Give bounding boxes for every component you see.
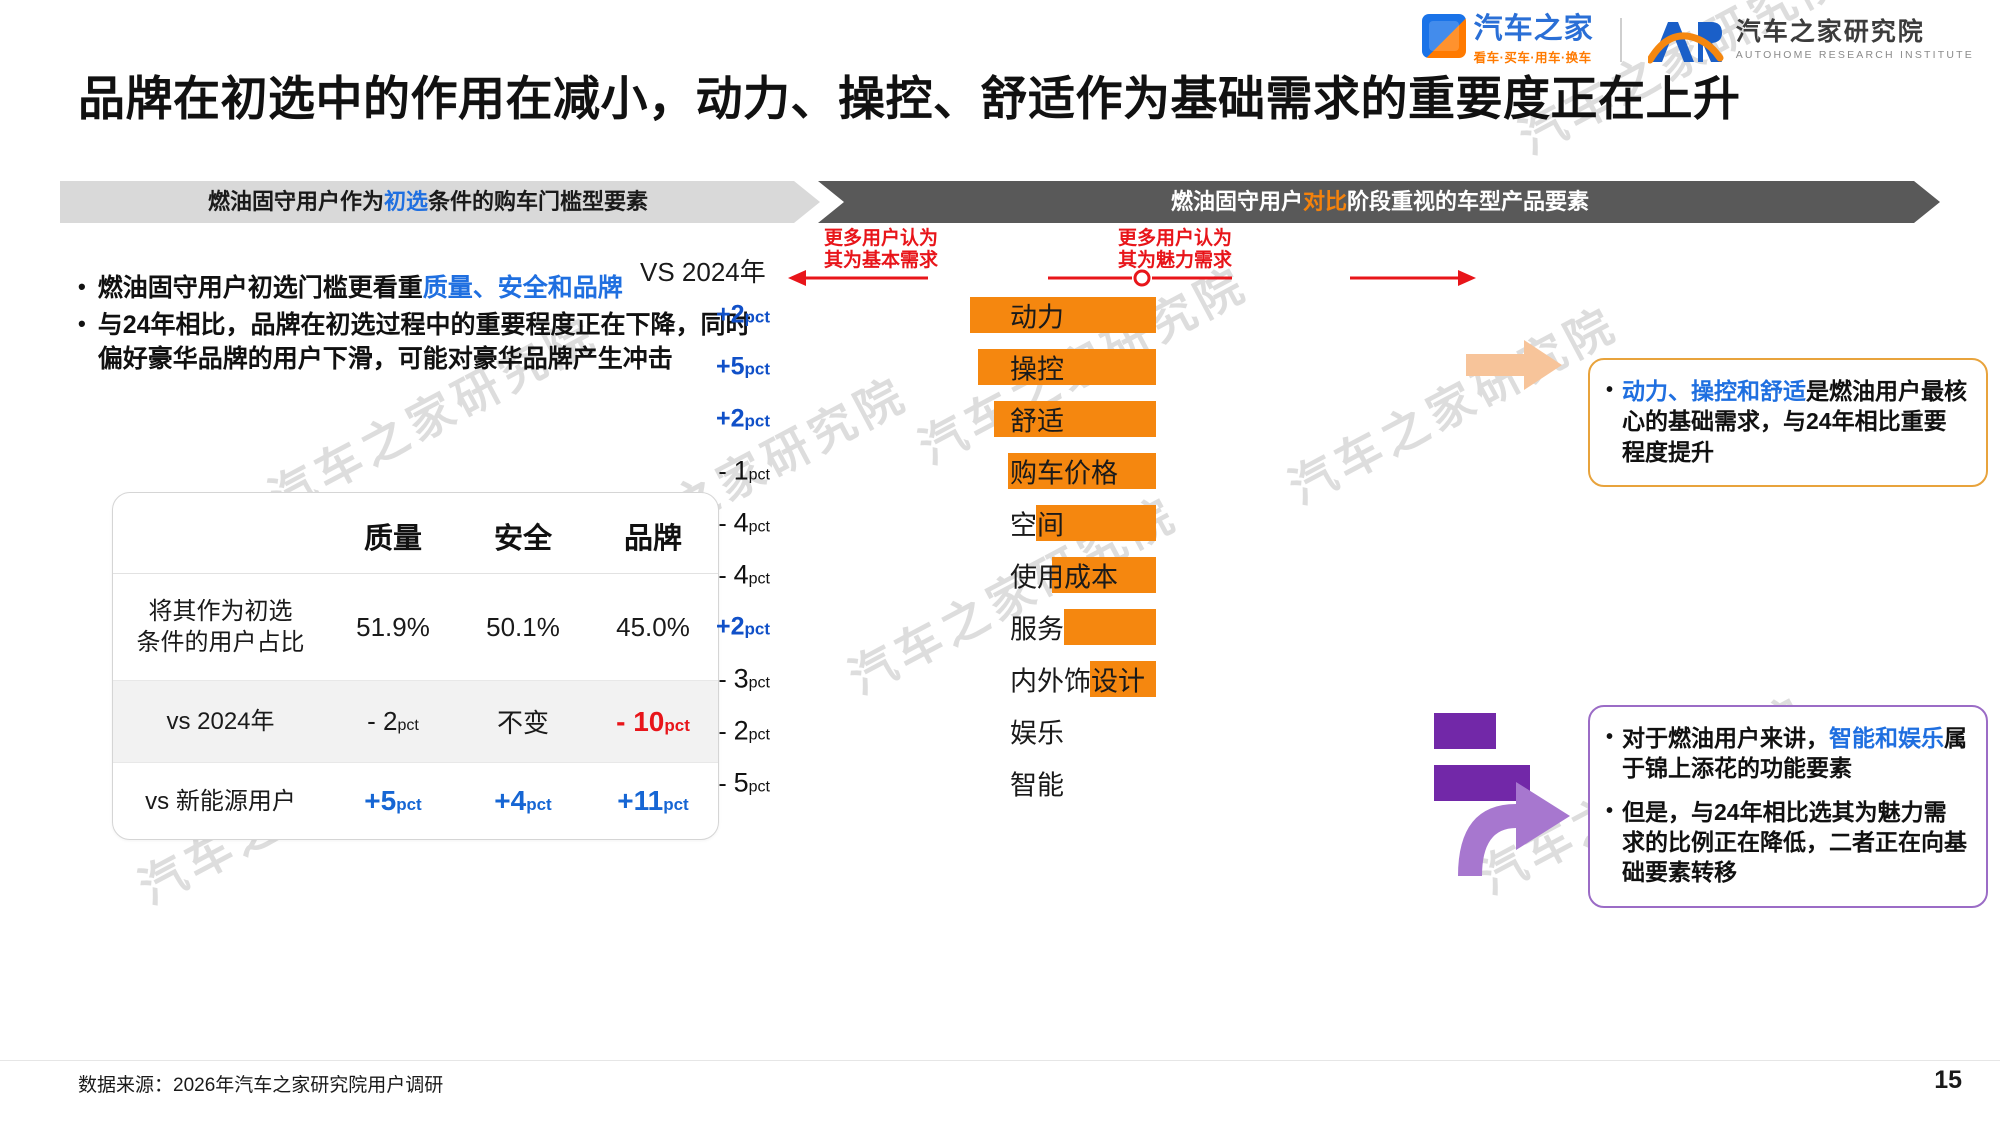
research-logo: 汽车之家研究院 AUTOHOME RESEARCH INSTITUTE xyxy=(1648,16,1974,64)
chart-row: +2pct 服务 xyxy=(800,602,1560,652)
delta-number: 3 xyxy=(734,664,749,694)
chart-category-label: 购车价格 xyxy=(1010,452,1118,491)
axis-note-basic-line1: 更多用户认为 xyxy=(824,228,938,250)
cell-value: - 2 xyxy=(367,706,397,736)
section-header-left: 燃油固守用户作为初选条件的购车门槛型要素 xyxy=(60,181,820,223)
delta-sign: - xyxy=(718,458,733,486)
ar-monogram-icon xyxy=(1648,16,1724,64)
delta-unit: pct xyxy=(749,571,770,588)
callout-text: 但是，与24年相比选其为魅力需求的比例正在降低，二者正在向基础要素转移 xyxy=(1622,797,1968,888)
callout-dot-icon: • xyxy=(1606,723,1613,784)
delta-unit: pct xyxy=(749,675,770,692)
cell-unit: pct xyxy=(397,717,418,734)
delta-number: 2 xyxy=(734,716,749,746)
research-logo-name: 汽车之家研究院 xyxy=(1736,19,1974,47)
delta-unit: pct xyxy=(745,412,771,431)
row-label: 将其作为初选条件的用户占比 xyxy=(113,596,328,658)
delta-number: 4 xyxy=(734,508,749,538)
autohome-mark-icon xyxy=(1422,14,1466,58)
delta-number: 5 xyxy=(734,768,749,798)
cell-value: +5 xyxy=(364,785,396,816)
callout-text: 对于燃油用户来讲， xyxy=(1622,725,1829,751)
ribbon-left-pre: 燃油固守用户作为 xyxy=(208,189,384,214)
chart-row: - 4pct 使用成本 xyxy=(800,550,1560,600)
page-number: 15 xyxy=(1934,1066,1962,1095)
delta-sign: - xyxy=(718,666,733,694)
delta-unit: pct xyxy=(745,308,771,327)
chart-rows: +2pct 动力 +5pct 操控 +2pct 舒适 - 1pct 购车价格 xyxy=(800,290,1560,810)
delta-unit: pct xyxy=(749,519,770,536)
cell-unit: pct xyxy=(396,795,422,814)
bullet-dot-icon: • xyxy=(78,272,86,305)
page-title: 品牌在初选中的作用在减小，动力、操控、舒适作为基础需求的重要度正在上升 xyxy=(78,60,1741,129)
delta-number: 5 xyxy=(731,353,745,381)
orange-connector-arrow-icon xyxy=(1462,334,1570,396)
chart-row: - 1pct 购车价格 xyxy=(800,446,1560,496)
table-row: vs 2024年 - 2pct 不变 - 10pct xyxy=(113,681,718,763)
row-label: vs 新能源用户 xyxy=(145,788,296,815)
delta-sign: + xyxy=(716,353,731,381)
cell-value: 50.1% xyxy=(486,612,560,642)
chart-category-label: 操控 xyxy=(1010,348,1064,387)
bullet-text: 燃油固守用户初选门槛更看重 xyxy=(98,274,423,302)
delta-number: 2 xyxy=(731,405,745,433)
cell-unit: pct xyxy=(526,795,552,814)
delta-unit: pct xyxy=(745,620,771,639)
chart-delta: - 2pct xyxy=(650,716,770,747)
chart-category-label: 舒适 xyxy=(1010,400,1064,439)
delta-sign: + xyxy=(716,613,731,641)
callout-dot-icon: • xyxy=(1606,376,1613,467)
callout-item: • 动力、操控和舒适是燃油用户最核心的基础需求，与24年相比重要程度提升 xyxy=(1606,376,1968,467)
purple-connector-arrow-icon xyxy=(1448,758,1580,888)
delta-unit: pct xyxy=(745,360,771,379)
table-row: 将其作为初选条件的用户占比 51.9% 50.1% 45.0% xyxy=(113,574,718,681)
needs-chart: VS 2024年 更多用户认为 其为基本需求 更多用户认为 其为魅力需求 +2p… xyxy=(800,290,1560,1010)
delta-number: 4 xyxy=(734,560,749,590)
research-logo-en: AUTOHOME RESEARCH INSTITUTE xyxy=(1736,49,1974,61)
chart-category-label: 使用成本 xyxy=(1010,556,1118,595)
chart-category-label: 内外饰设计 xyxy=(1010,660,1145,699)
chart-row: +2pct 动力 xyxy=(800,290,1560,340)
section-header-right: 燃油固守用户对比阶段重视的车型产品要素 xyxy=(818,181,1940,223)
callout-basic-needs: • 动力、操控和舒适是燃油用户最核心的基础需求，与24年相比重要程度提升 xyxy=(1588,358,1988,487)
chart-category-label: 动力 xyxy=(1010,296,1064,335)
axis-arrow-line xyxy=(780,266,1480,290)
chart-delta: - 4pct xyxy=(650,508,770,539)
chart-delta: - 5pct xyxy=(650,768,770,799)
callout-charm-needs: • 对于燃油用户来讲，智能和娱乐属于锦上添花的功能要素 • 但是，与24年相比选… xyxy=(1588,705,1988,908)
delta-sign: - xyxy=(718,510,733,538)
delta-number: 2 xyxy=(731,301,745,329)
table-header-blank xyxy=(113,493,328,574)
bullet-dot-icon: • xyxy=(78,309,86,376)
table-header-row: 质量 安全 品牌 xyxy=(113,493,718,574)
callout-highlight: 智能和娱乐 xyxy=(1829,725,1944,751)
bullet-highlight: 质量、安全和品牌 xyxy=(423,274,623,302)
delta-number: 1 xyxy=(734,456,749,486)
delta-unit: pct xyxy=(749,727,770,744)
cell-value: +4 xyxy=(494,785,526,816)
chart-delta: +5pct xyxy=(650,353,770,382)
chart-row: - 4pct 空间 xyxy=(800,498,1560,548)
chart-row: +2pct 舒适 xyxy=(800,394,1560,444)
delta-sign: + xyxy=(716,405,731,433)
ribbon-left-post: 条件的购车门槛型要素 xyxy=(428,189,648,214)
table-header-quality: 质量 xyxy=(328,493,458,574)
chart-row: - 2pct 娱乐 xyxy=(800,706,1560,756)
chart-delta: - 3pct xyxy=(650,664,770,695)
chart-delta: +2pct xyxy=(650,301,770,330)
chart-vs-label: VS 2024年 xyxy=(640,252,766,289)
chart-delta: +2pct xyxy=(650,613,770,642)
ribbon-right-post: 阶段重视的车型产品要素 xyxy=(1347,189,1589,214)
delta-sign: - xyxy=(718,718,733,746)
axis-note-charm-line1: 更多用户认为 xyxy=(1118,228,1232,250)
ribbon-right-highlight: 对比 xyxy=(1303,189,1347,214)
callout-item: • 对于燃油用户来讲，智能和娱乐属于锦上添花的功能要素 xyxy=(1606,723,1968,784)
delta-unit: pct xyxy=(749,467,770,484)
chart-delta: - 4pct xyxy=(650,560,770,591)
chart-bar xyxy=(1064,609,1156,645)
chart-delta: +2pct xyxy=(650,405,770,434)
chart-category-label: 娱乐 xyxy=(1010,712,1064,751)
threshold-table: 质量 安全 品牌 将其作为初选条件的用户占比 51.9% 50.1% 45.0%… xyxy=(112,492,719,840)
table-row: vs 新能源用户 +5pct +4pct +11pct xyxy=(113,763,718,840)
chart-row: - 3pct 内外饰设计 xyxy=(800,654,1560,704)
data-source-note: 数据来源：2026年汽车之家研究院用户调研 xyxy=(78,1070,443,1097)
chart-category-label: 空间 xyxy=(1010,504,1064,543)
table-header-safety: 安全 xyxy=(458,493,588,574)
chart-bar xyxy=(1434,713,1496,749)
cell-value: 51.9% xyxy=(356,612,430,642)
ribbon-left-highlight: 初选 xyxy=(384,189,428,214)
delta-sign: - xyxy=(718,562,733,590)
chart-category-label: 服务 xyxy=(1010,608,1064,647)
chart-bar xyxy=(978,349,1156,385)
row-label: vs 2024年 xyxy=(166,708,274,735)
delta-sign: - xyxy=(718,770,733,798)
chart-delta: - 1pct xyxy=(650,456,770,487)
cell-value: 不变 xyxy=(497,708,549,738)
chart-row: - 5pct 智能 xyxy=(800,758,1560,808)
ribbon-right-pre: 燃油固守用户 xyxy=(1171,189,1303,214)
delta-number: 2 xyxy=(731,613,745,641)
callout-dot-icon: • xyxy=(1606,797,1613,888)
autohome-logo-name: 汽车之家 xyxy=(1474,14,1594,44)
logo-divider xyxy=(1620,18,1622,62)
callout-highlight: 动力、操控和舒适 xyxy=(1622,378,1806,404)
chart-category-label: 智能 xyxy=(1010,764,1064,803)
autohome-logo: 汽车之家 看车·买车·用车·换车 xyxy=(1422,14,1594,66)
chart-row: +5pct 操控 xyxy=(800,342,1560,392)
delta-sign: + xyxy=(716,301,731,329)
delta-unit: pct xyxy=(749,779,770,796)
callout-item: • 但是，与24年相比选其为魅力需求的比例正在降低，二者正在向基础要素转移 xyxy=(1606,797,1968,888)
slide-root: 汽车之家研究院 汽车之家研究院 汽车之家研究院 汽车之家研究院 汽车之家研究院 … xyxy=(0,0,2000,1125)
header-logos: 汽车之家 看车·买车·用车·换车 汽车之家研究院 AUTOHOME RESEAR… xyxy=(1422,14,1974,66)
footer-divider xyxy=(0,1060,2000,1061)
